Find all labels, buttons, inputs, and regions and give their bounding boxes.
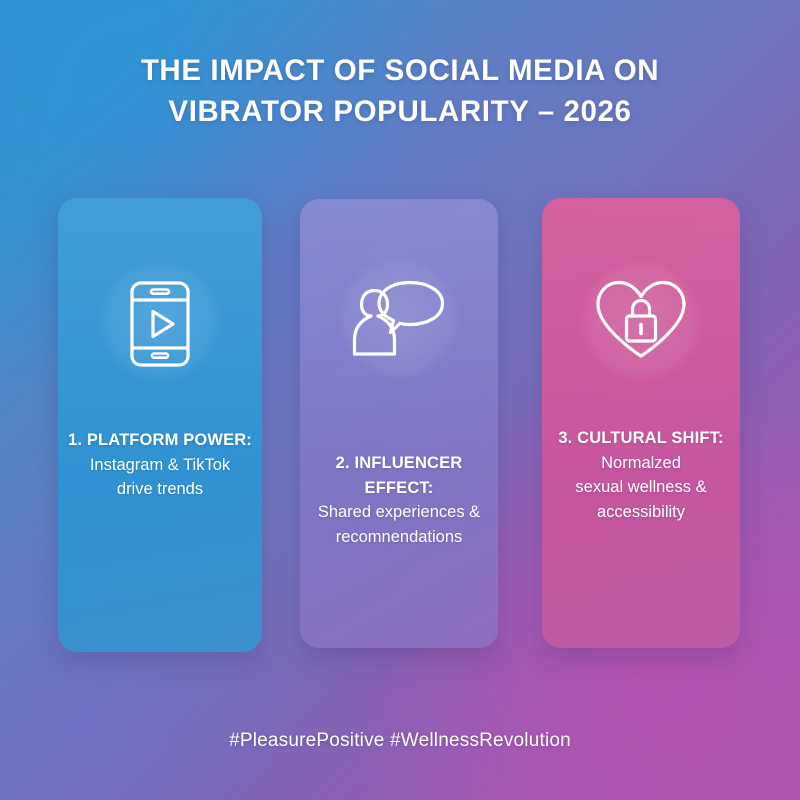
card-influencer-effect[interactable]: 2. INFLUENCER EFFECT: Shared experiences… xyxy=(300,199,498,648)
card-body-line-1: Instagram & TikTok xyxy=(68,453,252,478)
person-speech-bubble-icon xyxy=(353,273,445,365)
card-text: 1. PLATFORM POWER: Instagram & TikTok dr… xyxy=(68,428,252,502)
card-text: 2. INFLUENCER EFFECT: Shared experiences… xyxy=(310,451,488,549)
card-text: 3. CULTURAL SHIFT: Normalzed sexual well… xyxy=(552,426,730,524)
card-heading: 3. CULTURAL SHIFT: xyxy=(552,426,730,451)
page-title-line-1: THE IMPACT OF SOCIAL MEDIA ON xyxy=(141,54,659,87)
page-title: THE IMPACT OF SOCIAL MEDIA ON VIBRATOR P… xyxy=(0,50,800,132)
card-body-line-2: drive trends xyxy=(68,477,252,502)
infographic-canvas: THE IMPACT OF SOCIAL MEDIA ON VIBRATOR P… xyxy=(0,0,800,800)
card-body-line-2: recomnendations xyxy=(310,525,488,550)
card-body-line-1: Shared experiences & xyxy=(310,500,488,525)
card-heading: 1. PLATFORM POWER: xyxy=(68,428,252,453)
smartphone-play-icon xyxy=(114,278,206,370)
footer-hashtags: #PleasurePositive #WellnessRevolution xyxy=(0,730,800,752)
card-heading: 2. INFLUENCER EFFECT: xyxy=(310,451,488,500)
card-platform-power[interactable]: 1. PLATFORM POWER: Instagram & TikTok dr… xyxy=(58,198,262,652)
heart-lock-icon xyxy=(595,274,687,366)
card-body-line-2: sexual wellness & xyxy=(552,475,730,500)
card-cultural-shift[interactable]: 3. CULTURAL SHIFT: Normalzed sexual well… xyxy=(542,198,740,648)
page-title-line-2: VIBRATOR POPULARITY – 2026 xyxy=(0,91,800,132)
card-body-line-3: accessibility xyxy=(552,500,730,525)
card-body-line-1: Normalzed xyxy=(552,451,730,476)
